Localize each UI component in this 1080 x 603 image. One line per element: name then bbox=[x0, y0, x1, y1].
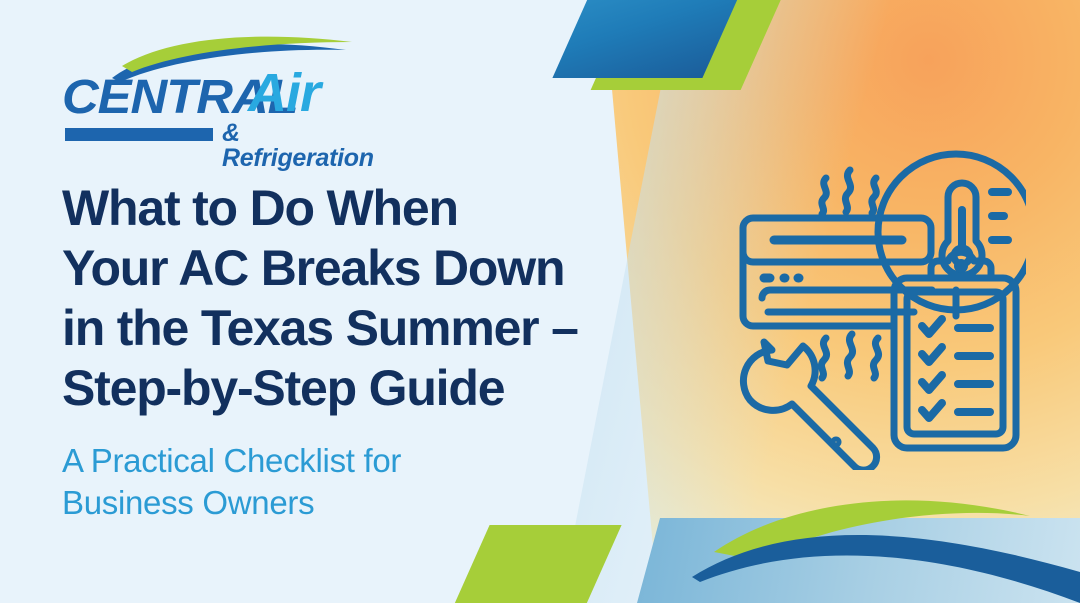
subheadline-line-2: Business Owners bbox=[62, 482, 582, 524]
headline-line-1: What to Do When bbox=[62, 178, 722, 238]
heat-wave-icon-lower bbox=[821, 334, 878, 378]
logo-underline-bar bbox=[65, 128, 213, 141]
logo-subtitle: & Refrigeration bbox=[222, 121, 374, 171]
heat-wave-icon bbox=[822, 170, 876, 214]
banner-canvas: CENTRAL Air & Refrigeration What to Do W… bbox=[0, 0, 1080, 603]
clipboard-checklist-icon bbox=[894, 252, 1016, 448]
page-subtitle: A Practical Checklist for Business Owner… bbox=[62, 440, 582, 524]
logo[interactable]: CENTRAL Air & Refrigeration bbox=[62, 36, 352, 151]
headline-line-2: Your AC Breaks Down bbox=[62, 238, 722, 298]
headline-line-4: Step-by-Step Guide bbox=[62, 358, 722, 418]
wrench-icon bbox=[743, 342, 876, 470]
hvac-illustration bbox=[726, 150, 1026, 470]
headline-line-3: in the Texas Summer – bbox=[62, 298, 722, 358]
page-title: What to Do When Your AC Breaks Down in t… bbox=[62, 178, 722, 418]
subheadline-line-1: A Practical Checklist for bbox=[62, 440, 582, 482]
logo-accent-word: Air bbox=[248, 66, 320, 120]
